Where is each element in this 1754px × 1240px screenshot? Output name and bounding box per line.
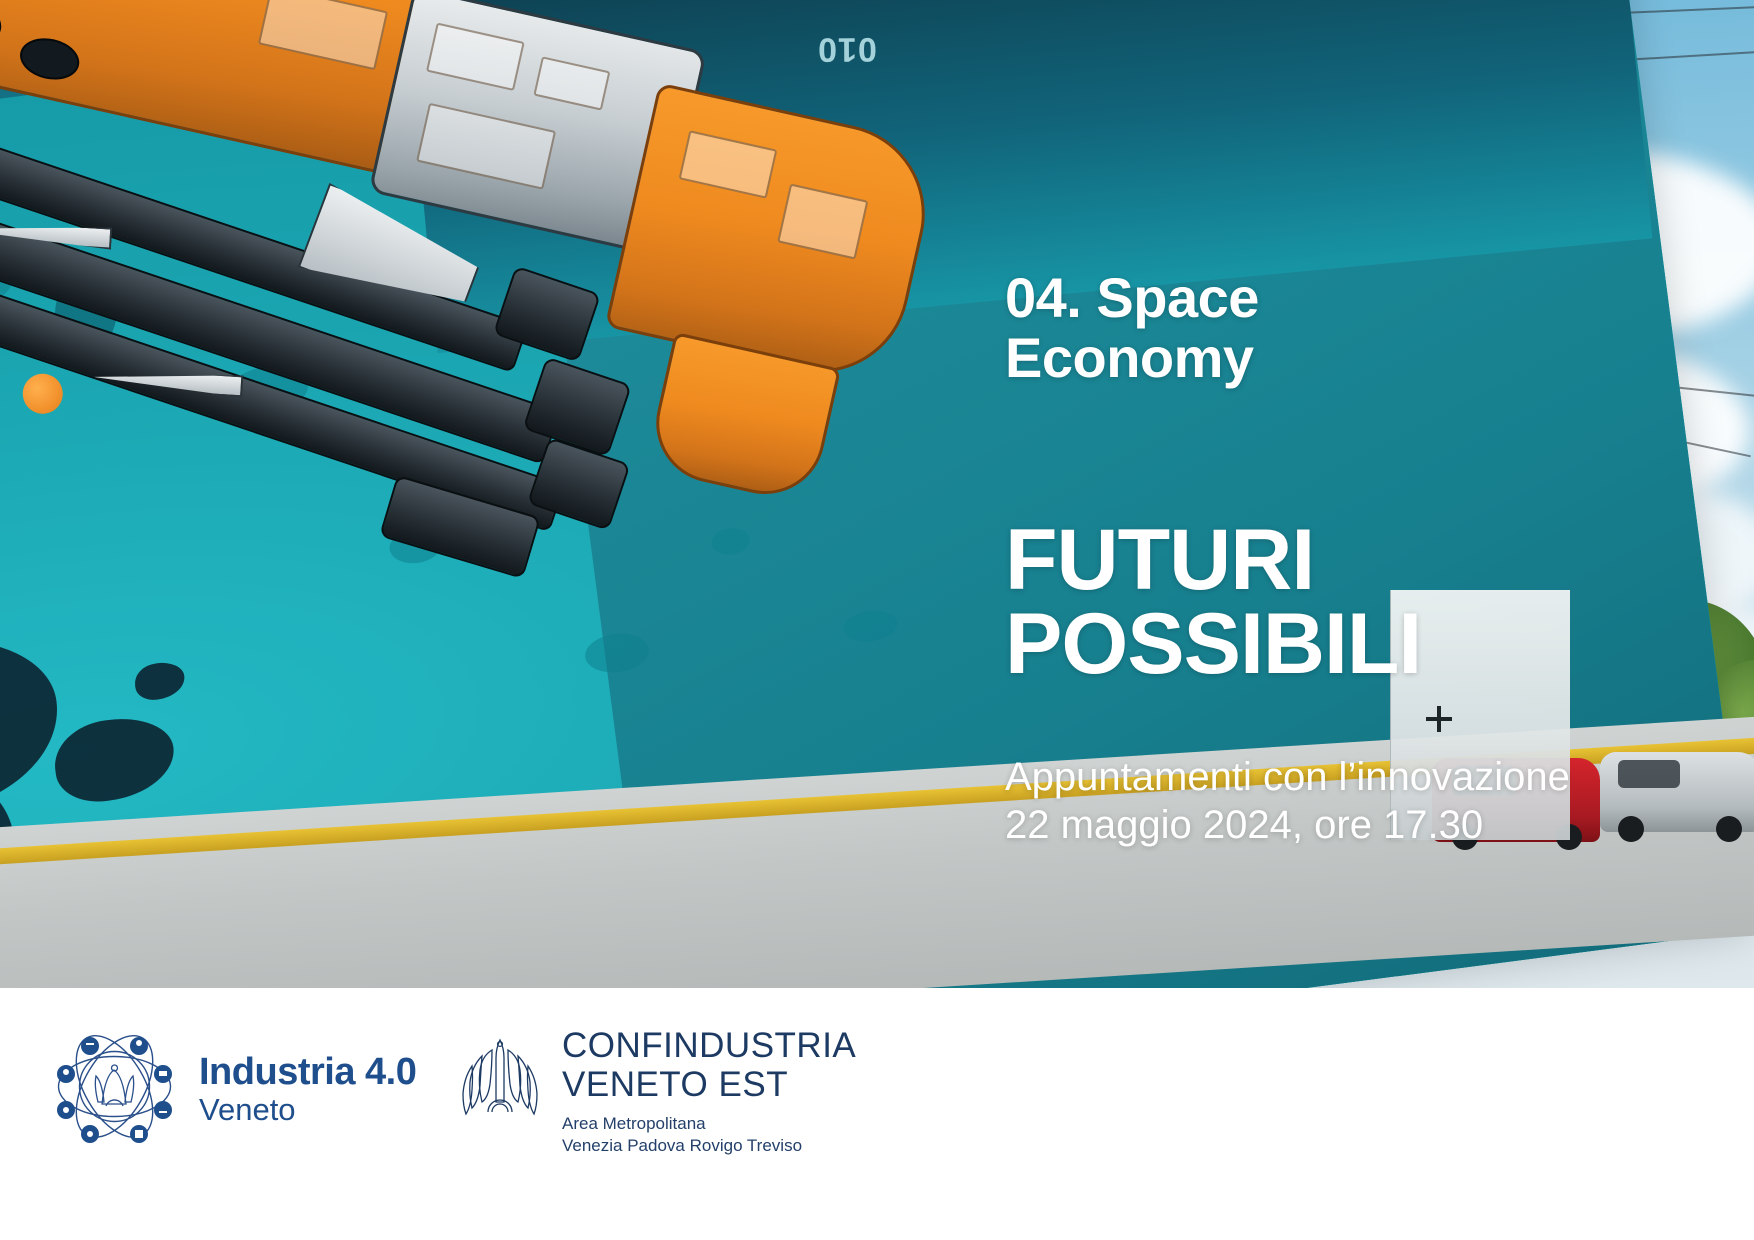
logo-industria40-veneto[interactable]: Industria 4.0 Veneto (52, 1024, 416, 1154)
industria40-line2: Veneto (199, 1092, 296, 1127)
logo-confindustria-veneto-est[interactable]: CONFINDUSTRIA VENETO EST Area Metropolit… (458, 1026, 856, 1158)
car-wheel (1716, 816, 1742, 842)
mural-code-text: 010 (817, 29, 877, 68)
hero-text-block: 04. Space Economy FUTURI POSSIBILI Appun… (1005, 268, 1705, 849)
industria40-line1: Industria 4.0 (199, 1051, 416, 1093)
event-meta: Appuntamenti con l’innovazione 22 maggio… (1005, 754, 1705, 848)
hero-mural-photo: 010 04. Space Economy FUTURI POSSIBILI A… (0, 0, 1754, 988)
industria40-label: Industria 4.0 Veneto (199, 1052, 416, 1127)
confindustria-sub: Area Metropolitana Venezia Padova Rovigo… (562, 1113, 856, 1157)
footer-logo-bar: Industria 4.0 Veneto (0, 988, 1754, 1240)
series-title: 04. Space Economy (1005, 268, 1705, 388)
confindustria-label: CONFINDUSTRIA VENETO EST Area Metropolit… (562, 1026, 856, 1158)
confindustria-name: CONFINDUSTRIA VENETO EST (562, 1026, 856, 1104)
main-title: FUTURI POSSIBILI (1005, 518, 1705, 687)
rocket-rear-section (605, 82, 943, 389)
event-poster: 010 04. Space Economy FUTURI POSSIBILI A… (0, 0, 1754, 1240)
atom-network-icon (52, 1024, 177, 1154)
confindustria-eagle-icon (458, 1032, 542, 1123)
